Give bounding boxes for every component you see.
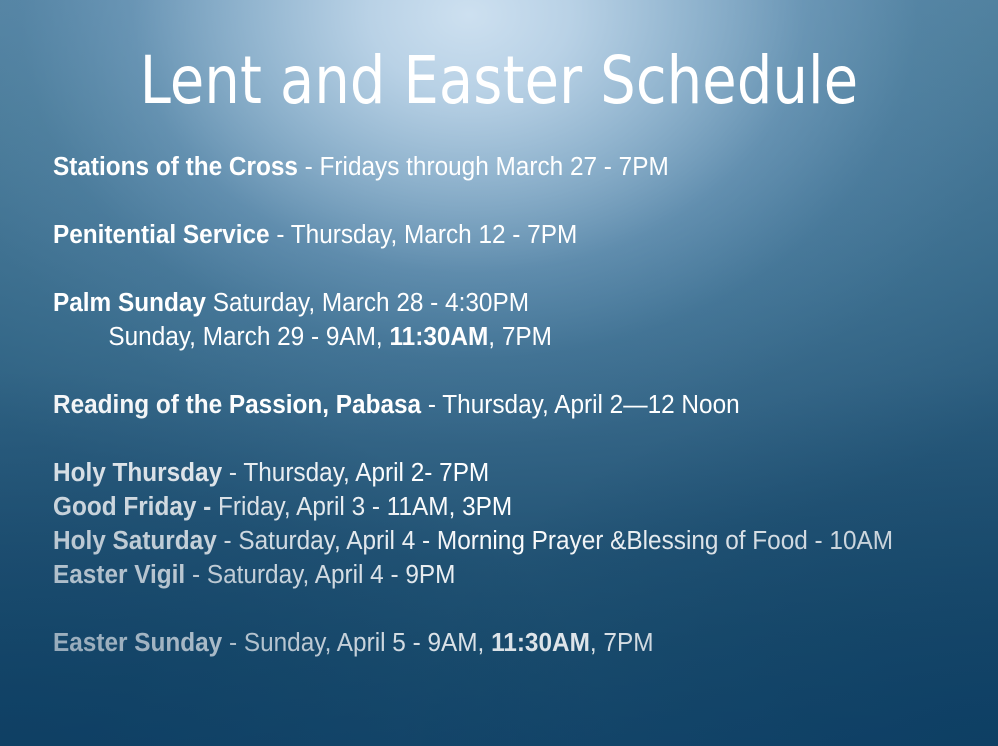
label-easter-sunday: 11:30AM [491,629,590,657]
schedule-spacer [53,592,941,626]
label-good-friday: Good Friday - [53,493,211,521]
label-reading-of-the-passion-pabasa: Reading of the Passion, Pabasa [53,391,421,419]
schedule-line-easter-vigil: Easter Vigil - Saturday, April 4 - 9PM [53,558,941,592]
label-easter-vigil: Easter Vigil [53,561,185,589]
detail-stations-of-the-cross: - Fridays through March 27 - 7PM [298,153,669,181]
detail-holy-saturday: - Saturday, April 4 - Morning Prayer &Bl… [217,527,893,555]
label-palm-sunday-second: 11:30AM [389,323,488,351]
schedule-spacer [53,184,941,218]
detail-palm-sunday: Saturday, March 28 - 4:30PM [206,289,529,317]
schedule-list: Stations of the Cross - Fridays through … [53,150,983,660]
schedule-spacer [53,354,941,388]
detail-easter-vigil: - Saturday, April 4 - 9PM [185,561,455,589]
detail-good-friday: Friday, April 3 - 11AM, 3PM [211,493,512,521]
label-holy-saturday: Holy Saturday [53,527,217,555]
detail-holy-thursday: - Thursday, April 2- 7PM [222,459,489,487]
page-title: Lent and Easter Schedule [30,48,968,114]
label-palm-sunday: Palm Sunday [53,289,206,317]
schedule-line-holy-saturday: Holy Saturday - Saturday, April 4 - Morn… [53,524,941,558]
detail-easter-sunday: - Sunday, April 5 - 9AM, [222,629,491,657]
detail-palm-sunday-second: , 7PM [488,323,552,351]
schedule-line-palm-sunday-second: Sunday, March 29 - 9AM, 11:30AM, 7PM [53,320,941,354]
label-stations-of-the-cross: Stations of the Cross [53,153,298,181]
schedule-line-good-friday: Good Friday - Friday, April 3 - 11AM, 3P… [53,490,941,524]
schedule-spacer [53,422,941,456]
detail-reading-of-the-passion-pabasa: - Thursday, April 2—12 Noon [421,391,740,419]
schedule-line-stations-of-the-cross: Stations of the Cross - Fridays through … [53,150,941,184]
detail-penitential-service: - Thursday, March 12 - 7PM [270,221,578,249]
label-penitential-service: Penitential Service [53,221,270,249]
label-holy-thursday: Holy Thursday [53,459,222,487]
schedule-line-holy-thursday: Holy Thursday - Thursday, April 2- 7PM [53,456,941,490]
detail-easter-sunday: , 7PM [590,629,654,657]
detail-palm-sunday-second: Sunday, March 29 - 9AM, [108,323,389,351]
schedule-line-easter-sunday: Easter Sunday - Sunday, April 5 - 9AM, 1… [53,626,941,660]
schedule-line-palm-sunday: Palm Sunday Saturday, March 28 - 4:30PM [53,286,941,320]
schedule-spacer [53,252,941,286]
label-easter-sunday: Easter Sunday [53,629,222,657]
schedule-line-penitential-service: Penitential Service - Thursday, March 12… [53,218,941,252]
slide-canvas: Lent and Easter Schedule Stations of the… [0,0,998,746]
schedule-line-reading-of-the-passion-pabasa: Reading of the Passion, Pabasa - Thursda… [53,388,941,422]
